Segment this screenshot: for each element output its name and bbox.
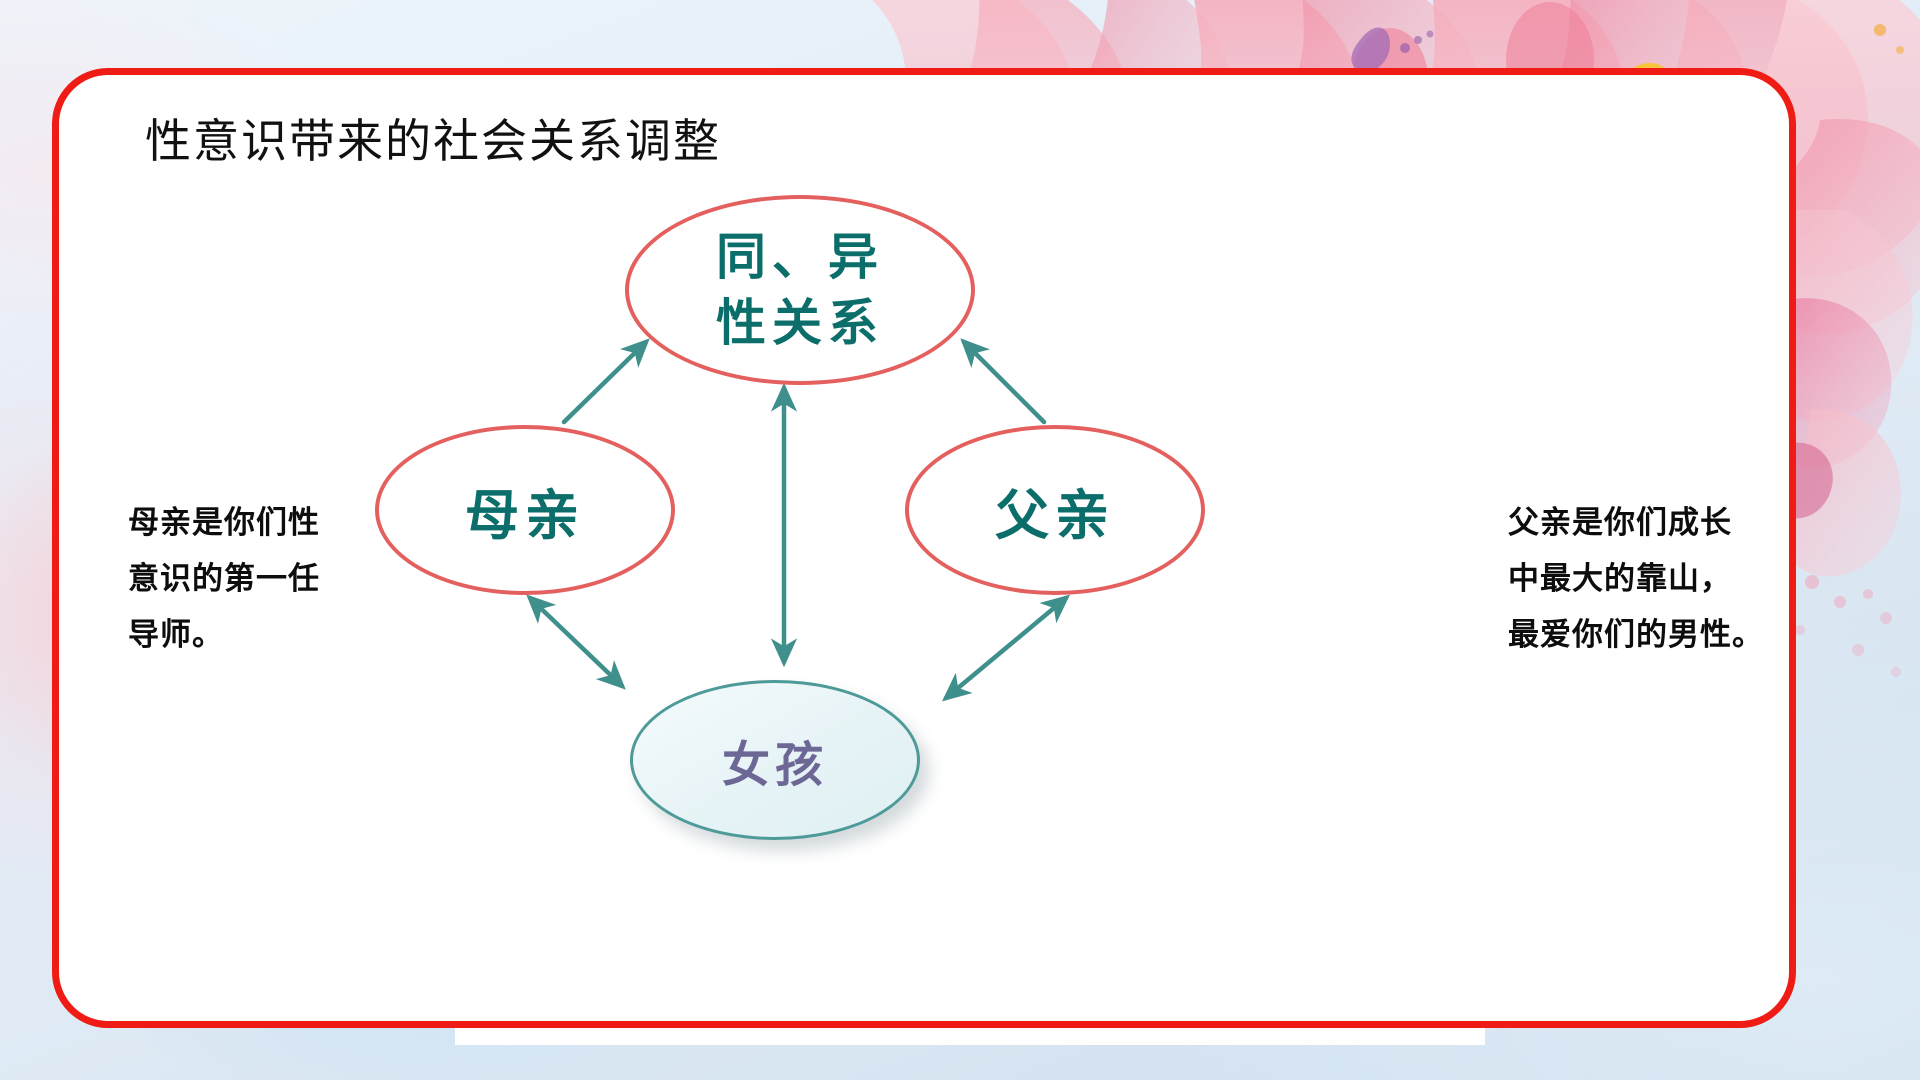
arrow-father-to-girl <box>946 598 1066 698</box>
diagram-arrows <box>430 190 1540 1020</box>
relationship-diagram: 同、异 性关系 母亲 父亲 女孩 <box>430 190 1540 1020</box>
node-sexual-relations-line-1: 同、异 <box>716 227 884 286</box>
arrow-father-to-relations <box>964 342 1044 422</box>
node-sexual-relations[interactable]: 同、异 性关系 <box>625 195 975 385</box>
arrow-mother-to-relations <box>564 342 646 422</box>
page-title: 性意识带来的社会关系调整 <box>145 118 721 164</box>
slide-canvas: 性意识带来的社会关系调整 母亲是你们性 意识的第一任 导师。 父亲是你们成长 中… <box>0 0 1920 1080</box>
node-mother[interactable]: 母亲 <box>375 425 675 595</box>
caption-mother-line-3: 导师。 <box>128 607 458 663</box>
node-girl[interactable]: 女孩 <box>630 680 920 840</box>
caption-father-line-3: 最爱你们的男性。 <box>1508 607 1858 663</box>
caption-father-line-2: 中最大的靠山， <box>1508 551 1858 607</box>
caption-father-line-1: 父亲是你们成长 <box>1508 495 1858 551</box>
node-sexual-relations-line-2: 性关系 <box>716 293 884 352</box>
arrow-mother-to-girl <box>530 598 622 686</box>
node-girl-label: 女孩 <box>722 725 828 795</box>
node-father-label: 父亲 <box>995 471 1115 550</box>
caption-father: 父亲是你们成长 中最大的靠山， 最爱你们的男性。 <box>1508 495 1858 663</box>
node-mother-label: 母亲 <box>465 471 585 550</box>
node-sexual-relations-label: 同、异 性关系 <box>716 224 884 356</box>
node-father[interactable]: 父亲 <box>905 425 1205 595</box>
